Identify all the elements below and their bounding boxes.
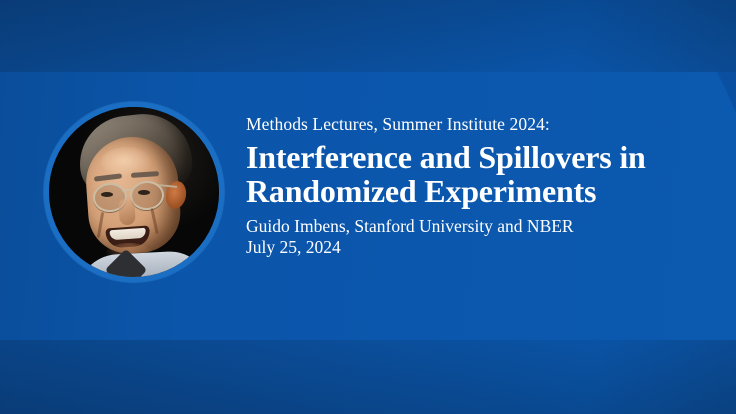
title-card: Methods Lectures, Summer Institute 2024:… — [0, 0, 736, 414]
portrait-nose — [118, 199, 135, 226]
speaker-byline: Guido Imbens, Stanford University and NB… — [246, 216, 696, 258]
background-band-top — [0, 0, 736, 72]
page-title-line-2: Randomized Experiments — [246, 174, 696, 208]
portrait-teeth — [109, 228, 146, 240]
background-band-bottom — [0, 340, 736, 414]
speaker-portrait — [44, 102, 224, 282]
speaker-portrait-frame — [49, 107, 219, 277]
title-text-block: Methods Lectures, Summer Institute 2024:… — [246, 112, 696, 258]
page-title-line-1: Interference and Spillovers in — [246, 140, 696, 174]
page-title: Interference and Spillovers in Randomize… — [246, 140, 696, 208]
lecture-date: July 25, 2024 — [246, 237, 696, 258]
series-eyebrow: Methods Lectures, Summer Institute 2024: — [246, 112, 696, 136]
portrait-photo — [49, 107, 219, 277]
speaker-name-affiliation: Guido Imbens, Stanford University and NB… — [246, 216, 696, 237]
